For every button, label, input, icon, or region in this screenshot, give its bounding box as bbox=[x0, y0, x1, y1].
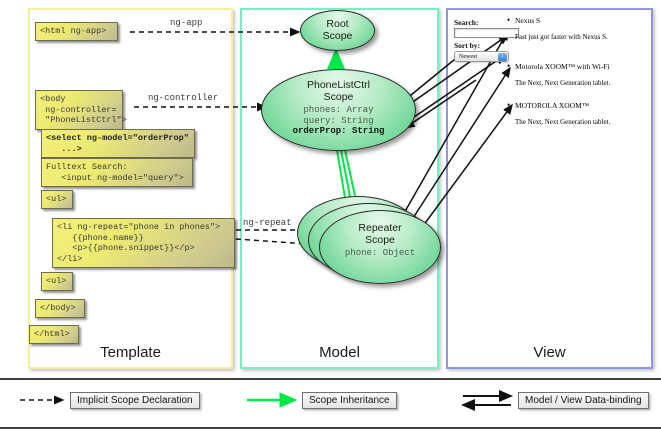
phone-item-name-1[interactable]: Motorola XOOM™ with Wi-Fi bbox=[515, 62, 610, 71]
phonelistctrl-scope-body: phones: Array query: String orderProp: S… bbox=[262, 105, 415, 137]
ul-close-box: <ul> bbox=[41, 272, 73, 291]
scope-var-phone: phone: Object bbox=[320, 248, 440, 259]
legend-implicit-scope: Implicit Scope Declaration bbox=[70, 392, 200, 409]
root-scope-title: RootScope bbox=[301, 18, 374, 42]
diagram-canvas: Template Model View bbox=[0, 0, 661, 425]
legend-data-binding: Model / View Data-binding bbox=[518, 392, 649, 409]
repeater-scope: RepeaterScope phone: Object bbox=[319, 210, 441, 284]
chevron-stepper-icon[interactable]: ↕ bbox=[498, 53, 507, 61]
scope-var-orderprop: orderProp: String bbox=[262, 126, 415, 137]
scope-var-phones: phones: Array bbox=[262, 105, 415, 116]
panel-template-label: Template bbox=[30, 344, 231, 361]
phone-item-name-0[interactable]: Nexus S bbox=[515, 16, 540, 25]
phone-item-snippet-2: The Next, Next Generation tablet. bbox=[515, 118, 610, 126]
sort-select[interactable]: Newest ↕ bbox=[454, 51, 509, 62]
repeater-scope-body: phone: Object bbox=[320, 248, 440, 259]
fulltext-box: Fulltext Search: <input ng-model="query"… bbox=[41, 158, 193, 187]
body-tag-box: <body ng-controller= "PhoneListCtrl"> bbox=[35, 90, 123, 130]
scope-var-query: query: String bbox=[262, 116, 415, 127]
select-tag-box: <select ng-model="orderProp" ...> bbox=[41, 129, 195, 158]
edge-label-ng-controller: ng-controller bbox=[148, 93, 218, 103]
legend: Implicit Scope Declaration Scope Inherit… bbox=[0, 378, 661, 429]
view-sort-label: Sort by: bbox=[454, 41, 480, 50]
li-repeat-box: <li ng-repeat="phone in phones"> {{phone… bbox=[52, 218, 235, 268]
phone-item-snippet-0: Fast just got faster with Nexus S. bbox=[515, 33, 608, 41]
html-tag-box: <html ng-app> bbox=[35, 22, 118, 41]
phone-item-snippet-1: The Next, Next Generation tablet. bbox=[515, 79, 610, 87]
edge-label-ng-app: ng-app bbox=[170, 18, 202, 28]
edge-label-ng-repeat: ng-repeat bbox=[243, 218, 292, 228]
sort-select-value: Newest bbox=[459, 54, 477, 60]
phonelistctrl-scope: PhoneListCtrlScope phones: Array query: … bbox=[261, 69, 416, 151]
body-close-box: </body> bbox=[35, 299, 85, 318]
ul-open-box: <ul> bbox=[41, 190, 73, 209]
phonelistctrl-scope-title: PhoneListCtrlScope bbox=[262, 79, 415, 103]
panel-model: Model bbox=[240, 8, 439, 369]
panel-model-label: Model bbox=[242, 344, 437, 361]
root-scope: RootScope bbox=[300, 10, 375, 51]
html-close-box: </html> bbox=[29, 325, 79, 344]
repeater-scope-title: RepeaterScope bbox=[320, 222, 440, 246]
view-search-label: Search: bbox=[454, 18, 478, 27]
phone-item-name-2[interactable]: MOTOROLA XOOM™ bbox=[515, 101, 589, 110]
panel-view-label: View bbox=[448, 344, 651, 361]
legend-scope-inherit: Scope Inheritance bbox=[302, 392, 397, 409]
search-input[interactable] bbox=[454, 28, 519, 38]
